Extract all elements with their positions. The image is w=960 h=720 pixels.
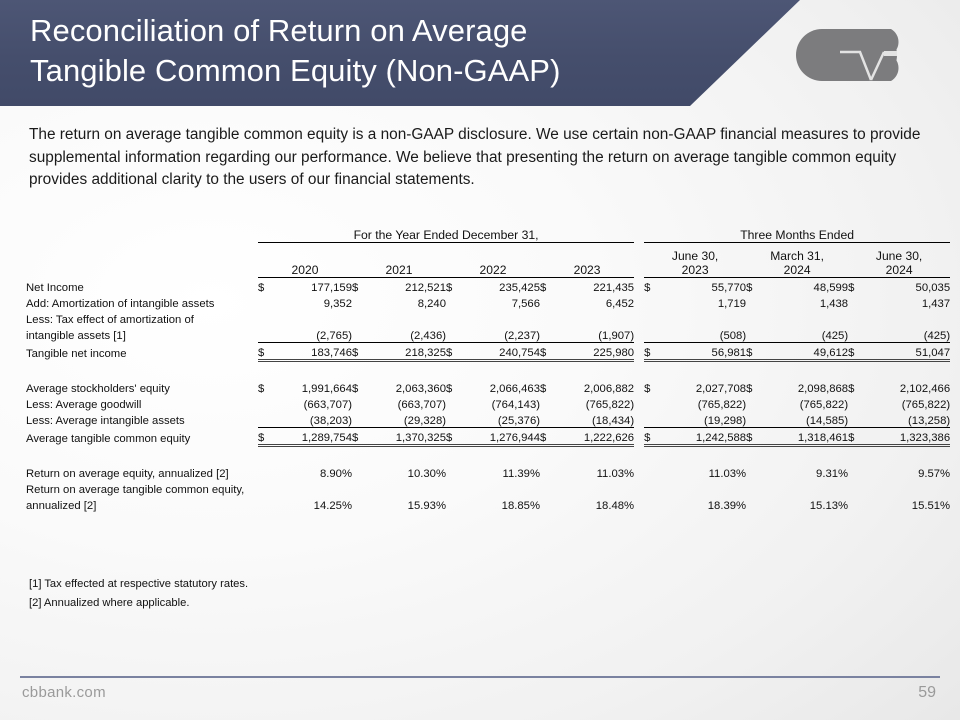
cell-value: (1,907) — [556, 326, 634, 343]
cell-value: (19,298) — [660, 411, 746, 428]
column-gap-cell — [634, 411, 644, 428]
currency-symbol — [446, 395, 462, 411]
row-label: Tangible net income — [26, 342, 258, 360]
cell-value — [762, 480, 848, 496]
column-header-jun30-2023: June 30, 2023 — [644, 249, 746, 278]
cell-value: (13,258) — [864, 411, 950, 428]
column-gap-cell — [634, 496, 644, 512]
table-row: Tangible net income$183,746$218,325$240,… — [26, 342, 950, 360]
cell-value: (2,765) — [274, 326, 352, 343]
currency-symbol: $ — [352, 277, 368, 294]
cell-value: 2,102,466 — [864, 379, 950, 395]
cell-value: 14.25% — [274, 496, 352, 512]
column-header-mar31-2024: March 31, 2024 — [746, 249, 848, 278]
currency-symbol: $ — [848, 342, 864, 360]
column-gap-cell — [634, 427, 644, 445]
cell-value: (14,585) — [762, 411, 848, 428]
currency-symbol — [644, 395, 660, 411]
currency-symbol — [352, 326, 368, 343]
cell-value: (18,434) — [556, 411, 634, 428]
row-label: annualized [2] — [26, 496, 258, 512]
cell-value: (38,203) — [274, 411, 352, 428]
table-body: Net Income$177,159$212,521$235,425$221,4… — [26, 277, 950, 512]
row-label: Less: Average intangible assets — [26, 411, 258, 428]
cell-value: (2,237) — [462, 326, 540, 343]
currency-symbol — [258, 326, 274, 343]
column-gap-cell — [634, 379, 644, 395]
col-mar31-2024-line1: March 31, — [770, 249, 824, 263]
column-header-2022: 2022 — [446, 249, 540, 278]
column-gap-cell — [634, 277, 644, 294]
cell-value — [660, 310, 746, 326]
cell-value: 8.90% — [274, 464, 352, 480]
currency-symbol — [446, 411, 462, 428]
currency-symbol: $ — [446, 379, 462, 395]
col-jun30-2024-line2: 2024 — [886, 263, 913, 277]
cell-value: 8,240 — [368, 294, 446, 310]
column-gap-cell — [634, 326, 644, 343]
col-2020-line2: 2020 — [292, 263, 319, 277]
currency-symbol — [352, 310, 368, 326]
cell-value: (508) — [660, 326, 746, 343]
cell-value: 51,047 — [864, 342, 950, 360]
currency-symbol — [540, 310, 556, 326]
cell-value: 18.85% — [462, 496, 540, 512]
cell-value: (765,822) — [762, 395, 848, 411]
column-header-jun30-2024: June 30, 2024 — [848, 249, 950, 278]
column-header-2023: 2023 — [540, 249, 634, 278]
cell-value — [462, 480, 540, 496]
cell-value: 235,425 — [462, 277, 540, 294]
currency-symbol — [352, 496, 368, 512]
group-header-row: For the Year Ended December 31, Three Mo… — [26, 228, 950, 243]
cell-value: (425) — [864, 326, 950, 343]
cell-value: 48,599 — [762, 277, 848, 294]
cell-value: 2,098,868 — [762, 379, 848, 395]
currency-symbol — [540, 480, 556, 496]
table-row: Net Income$177,159$212,521$235,425$221,4… — [26, 277, 950, 294]
column-header-row: 2020 2021 2022 2023 June 30, 2023 — [26, 249, 950, 278]
cell-value: 15.13% — [762, 496, 848, 512]
row-label: Average tangible common equity — [26, 427, 258, 445]
currency-symbol — [848, 310, 864, 326]
cell-value — [368, 310, 446, 326]
footer-divider — [20, 676, 940, 678]
column-gap-cell — [634, 342, 644, 360]
currency-symbol — [258, 464, 274, 480]
table-row: Add: Amortization of intangible assets9,… — [26, 294, 950, 310]
currency-symbol — [746, 294, 762, 310]
column-gap-cell — [634, 310, 644, 326]
col-2021-line2: 2021 — [386, 263, 413, 277]
footnote-2: [2] Annualized where applicable. — [29, 597, 189, 609]
row-label: Return on average equity, annualized [2] — [26, 464, 258, 480]
column-header-gap — [634, 249, 644, 278]
currency-symbol: $ — [540, 427, 556, 445]
intro-paragraph: The return on average tangible common eq… — [29, 124, 929, 192]
currency-symbol — [446, 294, 462, 310]
cell-value — [274, 310, 352, 326]
table-row: intangible assets [1](2,765)(2,436)(2,23… — [26, 326, 950, 343]
cell-value: (765,822) — [660, 395, 746, 411]
col-jun30-2023-line2: 2023 — [682, 263, 709, 277]
cell-value: 1,719 — [660, 294, 746, 310]
row-label: Add: Amortization of intangible assets — [26, 294, 258, 310]
currency-symbol — [848, 411, 864, 428]
cell-value: 1,323,386 — [864, 427, 950, 445]
group-gap — [634, 228, 644, 243]
currency-symbol — [848, 294, 864, 310]
column-gap-cell — [634, 395, 644, 411]
table-row: Less: Tax effect of amortization of — [26, 310, 950, 326]
currency-symbol — [446, 464, 462, 480]
currency-symbol — [258, 395, 274, 411]
cell-value: 1,276,944 — [462, 427, 540, 445]
currency-symbol — [848, 395, 864, 411]
cell-value: 1,438 — [762, 294, 848, 310]
cell-value: 9.31% — [762, 464, 848, 480]
currency-symbol — [446, 310, 462, 326]
currency-symbol — [540, 326, 556, 343]
currency-symbol: $ — [644, 427, 660, 445]
currency-symbol: $ — [258, 379, 274, 395]
currency-symbol: $ — [848, 379, 864, 395]
cell-value: (663,707) — [274, 395, 352, 411]
currency-symbol: $ — [848, 277, 864, 294]
currency-symbol — [644, 411, 660, 428]
row-label: Return on average tangible common equity… — [26, 480, 258, 496]
cell-value: 2,066,463 — [462, 379, 540, 395]
row-label: Less: Tax effect of amortization of — [26, 310, 258, 326]
currency-symbol — [352, 480, 368, 496]
table-spacer-cell — [26, 360, 950, 379]
cell-value: 2,006,882 — [556, 379, 634, 395]
cell-value: 10.30% — [368, 464, 446, 480]
currency-symbol — [746, 310, 762, 326]
page-title: Reconciliation of Return on Average Tang… — [30, 11, 730, 91]
currency-symbol — [540, 464, 556, 480]
cell-value: 1,991,664 — [274, 379, 352, 395]
col-mar31-2024-line2: 2024 — [784, 263, 811, 277]
table-row: Return on average equity, annualized [2]… — [26, 464, 950, 480]
currency-symbol — [746, 480, 762, 496]
table-head: For the Year Ended December 31, Three Mo… — [26, 228, 950, 277]
cell-value: (764,143) — [462, 395, 540, 411]
currency-symbol — [446, 496, 462, 512]
cell-value: 15.93% — [368, 496, 446, 512]
cell-value: (663,707) — [368, 395, 446, 411]
cell-value — [274, 480, 352, 496]
slide: Reconciliation of Return on Average Tang… — [0, 0, 960, 720]
footnote-1: [1] Tax effected at respective statutory… — [29, 578, 248, 590]
currency-symbol: $ — [644, 277, 660, 294]
table-row: annualized [2]14.25%15.93%18.85%18.48%18… — [26, 496, 950, 512]
group-header-year: For the Year Ended December 31, — [258, 228, 634, 243]
currency-symbol: $ — [746, 379, 762, 395]
currency-symbol: $ — [446, 277, 462, 294]
currency-symbol — [644, 480, 660, 496]
cell-value: 55,770 — [660, 277, 746, 294]
currency-symbol: $ — [644, 379, 660, 395]
cell-value: 18.48% — [556, 496, 634, 512]
currency-symbol: $ — [540, 277, 556, 294]
column-header-2020: 2020 — [258, 249, 352, 278]
currency-symbol — [848, 496, 864, 512]
currency-symbol — [446, 326, 462, 343]
currency-symbol: $ — [644, 342, 660, 360]
cell-value: 56,981 — [660, 342, 746, 360]
currency-symbol — [352, 464, 368, 480]
currency-symbol — [540, 496, 556, 512]
row-label: Average stockholders' equity — [26, 379, 258, 395]
cell-value — [762, 310, 848, 326]
currency-symbol — [644, 496, 660, 512]
row-label: intangible assets [1] — [26, 326, 258, 343]
cell-value: 221,435 — [556, 277, 634, 294]
currency-symbol: $ — [446, 342, 462, 360]
cell-value: (425) — [762, 326, 848, 343]
col-2022-line2: 2022 — [480, 263, 507, 277]
currency-symbol: $ — [258, 427, 274, 445]
currency-symbol: $ — [540, 342, 556, 360]
cell-value: 6,452 — [556, 294, 634, 310]
currency-symbol — [644, 310, 660, 326]
cell-value: 11.39% — [462, 464, 540, 480]
cell-value: 1,242,588 — [660, 427, 746, 445]
currency-symbol: $ — [352, 379, 368, 395]
cell-value: 49,612 — [762, 342, 848, 360]
cell-value: 218,325 — [368, 342, 446, 360]
footer-website: cbbank.com — [22, 684, 106, 701]
currency-symbol — [352, 395, 368, 411]
currency-symbol — [540, 294, 556, 310]
cell-value — [660, 480, 746, 496]
column-gap-cell — [634, 294, 644, 310]
currency-symbol: $ — [746, 342, 762, 360]
table-row: Average stockholders' equity$1,991,664$2… — [26, 379, 950, 395]
cell-value: 9.57% — [864, 464, 950, 480]
currency-symbol — [540, 411, 556, 428]
currency-symbol — [644, 464, 660, 480]
cell-value: 212,521 — [368, 277, 446, 294]
currency-symbol: $ — [352, 427, 368, 445]
currency-symbol — [258, 480, 274, 496]
row-label: Less: Average goodwill — [26, 395, 258, 411]
cell-value: (765,822) — [556, 395, 634, 411]
currency-symbol — [352, 411, 368, 428]
cell-value: 2,027,708 — [660, 379, 746, 395]
table-row: Less: Average intangible assets(38,203)(… — [26, 411, 950, 428]
cell-value: 240,754 — [462, 342, 540, 360]
cell-value — [368, 480, 446, 496]
currency-symbol: $ — [352, 342, 368, 360]
cell-value: 2,063,360 — [368, 379, 446, 395]
currency-symbol: $ — [746, 277, 762, 294]
cvb-logo — [796, 24, 912, 86]
cell-value — [556, 310, 634, 326]
currency-symbol — [848, 480, 864, 496]
group-header-spacer — [26, 228, 258, 243]
cell-value: 1,289,754 — [274, 427, 352, 445]
currency-symbol — [644, 326, 660, 343]
currency-symbol — [644, 294, 660, 310]
currency-symbol — [848, 464, 864, 480]
col-2023-line2: 2023 — [574, 263, 601, 277]
footer-page-number: 59 — [918, 684, 936, 702]
cell-value: 11.03% — [660, 464, 746, 480]
cell-value: 1,318,461 — [762, 427, 848, 445]
col-jun30-2024-line1: June 30, — [876, 249, 922, 263]
currency-symbol: $ — [746, 427, 762, 445]
currency-symbol — [258, 496, 274, 512]
column-gap-cell — [634, 480, 644, 496]
cell-value — [864, 480, 950, 496]
cell-value — [864, 310, 950, 326]
cell-value: 1,222,626 — [556, 427, 634, 445]
cell-value: (2,436) — [368, 326, 446, 343]
cell-value: 11.03% — [556, 464, 634, 480]
row-label: Net Income — [26, 277, 258, 294]
table-spacer-row — [26, 445, 950, 464]
currency-symbol — [746, 326, 762, 343]
currency-symbol — [746, 464, 762, 480]
currency-symbol: $ — [258, 342, 274, 360]
currency-symbol — [258, 411, 274, 428]
currency-symbol — [352, 294, 368, 310]
currency-symbol — [746, 411, 762, 428]
col-jun30-2023-line1: June 30, — [672, 249, 718, 263]
currency-symbol: $ — [540, 379, 556, 395]
cell-value: 1,437 — [864, 294, 950, 310]
cell-value: 225,980 — [556, 342, 634, 360]
reconciliation-table: For the Year Ended December 31, Three Mo… — [26, 228, 950, 512]
cell-value: 183,746 — [274, 342, 352, 360]
currency-symbol — [746, 395, 762, 411]
currency-symbol — [540, 395, 556, 411]
cell-value: 7,566 — [462, 294, 540, 310]
column-gap-cell — [634, 464, 644, 480]
cell-value: 50,035 — [864, 277, 950, 294]
currency-symbol — [746, 496, 762, 512]
cell-value: (25,376) — [462, 411, 540, 428]
table-row: Average tangible common equity$1,289,754… — [26, 427, 950, 445]
cell-value: (765,822) — [864, 395, 950, 411]
table-row: Return on average tangible common equity… — [26, 480, 950, 496]
currency-symbol — [258, 294, 274, 310]
currency-symbol: $ — [258, 277, 274, 294]
cell-value: 9,352 — [274, 294, 352, 310]
column-header-label-spacer — [26, 249, 258, 278]
table-spacer-cell — [26, 445, 950, 464]
cell-value: 177,159 — [274, 277, 352, 294]
currency-symbol: $ — [446, 427, 462, 445]
table-row: Less: Average goodwill(663,707)(663,707)… — [26, 395, 950, 411]
cell-value: 15.51% — [864, 496, 950, 512]
cell-value — [462, 310, 540, 326]
column-header-2021: 2021 — [352, 249, 446, 278]
table-spacer-row — [26, 360, 950, 379]
cell-value: 1,370,325 — [368, 427, 446, 445]
currency-symbol — [446, 480, 462, 496]
currency-symbol — [258, 310, 274, 326]
cell-value: 18.39% — [660, 496, 746, 512]
currency-symbol: $ — [848, 427, 864, 445]
currency-symbol — [848, 326, 864, 343]
cell-value: (29,328) — [368, 411, 446, 428]
group-header-quarter: Three Months Ended — [644, 228, 950, 243]
cell-value — [556, 480, 634, 496]
